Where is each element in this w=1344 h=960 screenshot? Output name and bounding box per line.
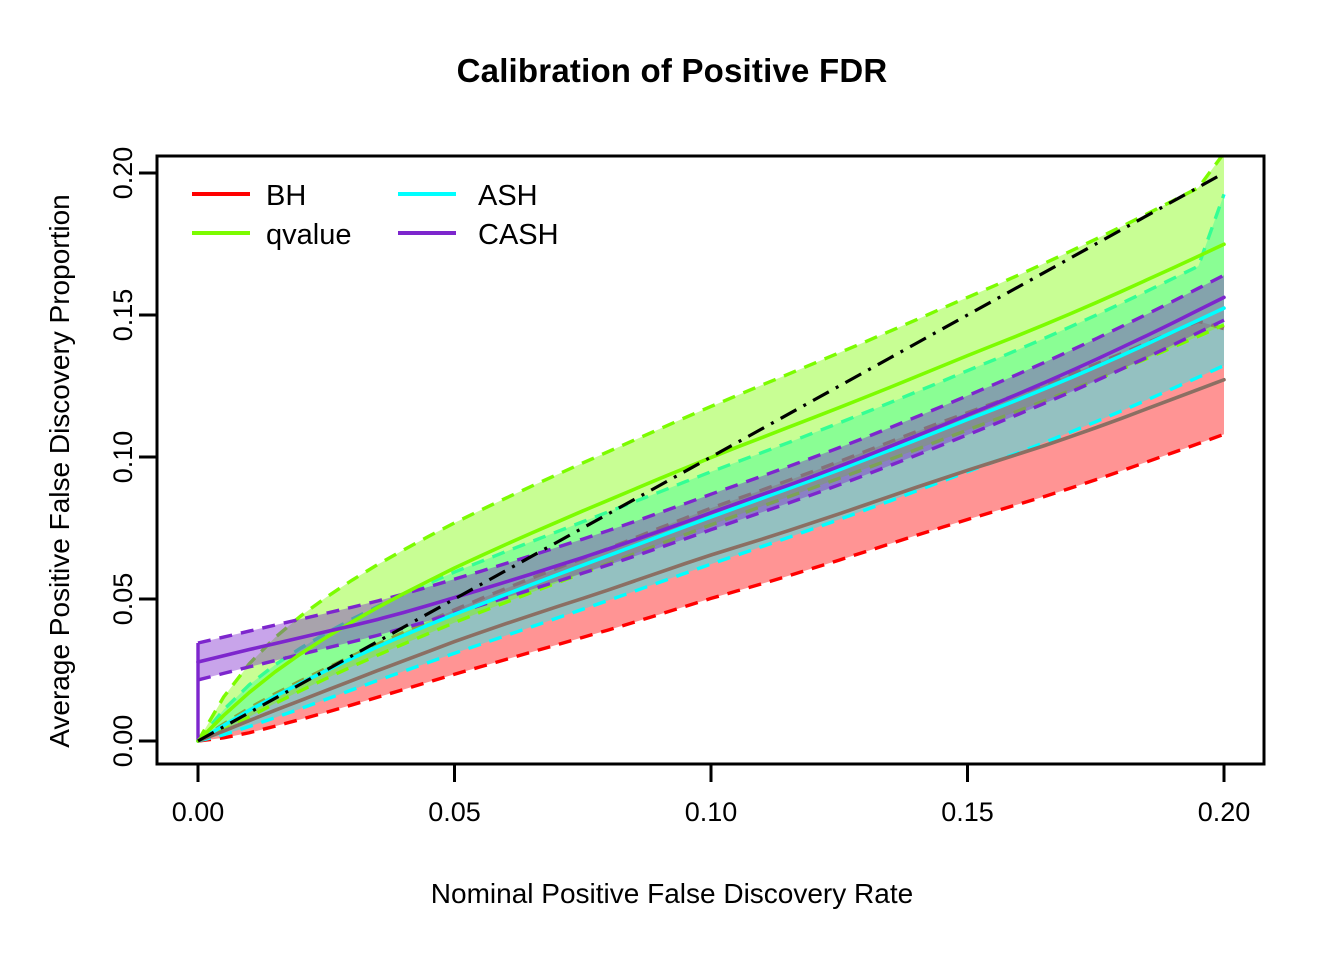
x-tick-label: 0.20	[1198, 797, 1251, 827]
y-axis-label: Average Positive False Discovery Proport…	[44, 111, 76, 831]
y-tick-label: 0.00	[108, 715, 138, 768]
x-tick-label: 0.15	[941, 797, 994, 827]
x-tick-label: 0.10	[685, 797, 738, 827]
legend-label-bh: BH	[266, 180, 306, 212]
confidence-bands-group	[198, 153, 1224, 741]
x-axis-label: Nominal Positive False Discovery Rate	[0, 878, 1344, 910]
x-tick-label: 0.00	[172, 797, 225, 827]
x-tick-label: 0.05	[428, 797, 481, 827]
y-tick-label: 0.15	[108, 289, 138, 342]
figure-panel: Calibration of Positive FDR 0.000.050.10…	[0, 0, 1344, 960]
chart-legend: BHqvalueASHCASH	[192, 180, 559, 251]
y-tick-label: 0.05	[108, 573, 138, 626]
y-tick-label: 0.20	[108, 147, 138, 200]
legend-label-qvalue: qvalue	[266, 219, 351, 251]
legend-label-ash: ASH	[478, 180, 538, 212]
y-tick-label: 0.10	[108, 431, 138, 484]
legend-label-cash: CASH	[478, 219, 559, 251]
plot-canvas: 0.000.050.100.150.200.000.050.100.150.20…	[0, 0, 1344, 960]
